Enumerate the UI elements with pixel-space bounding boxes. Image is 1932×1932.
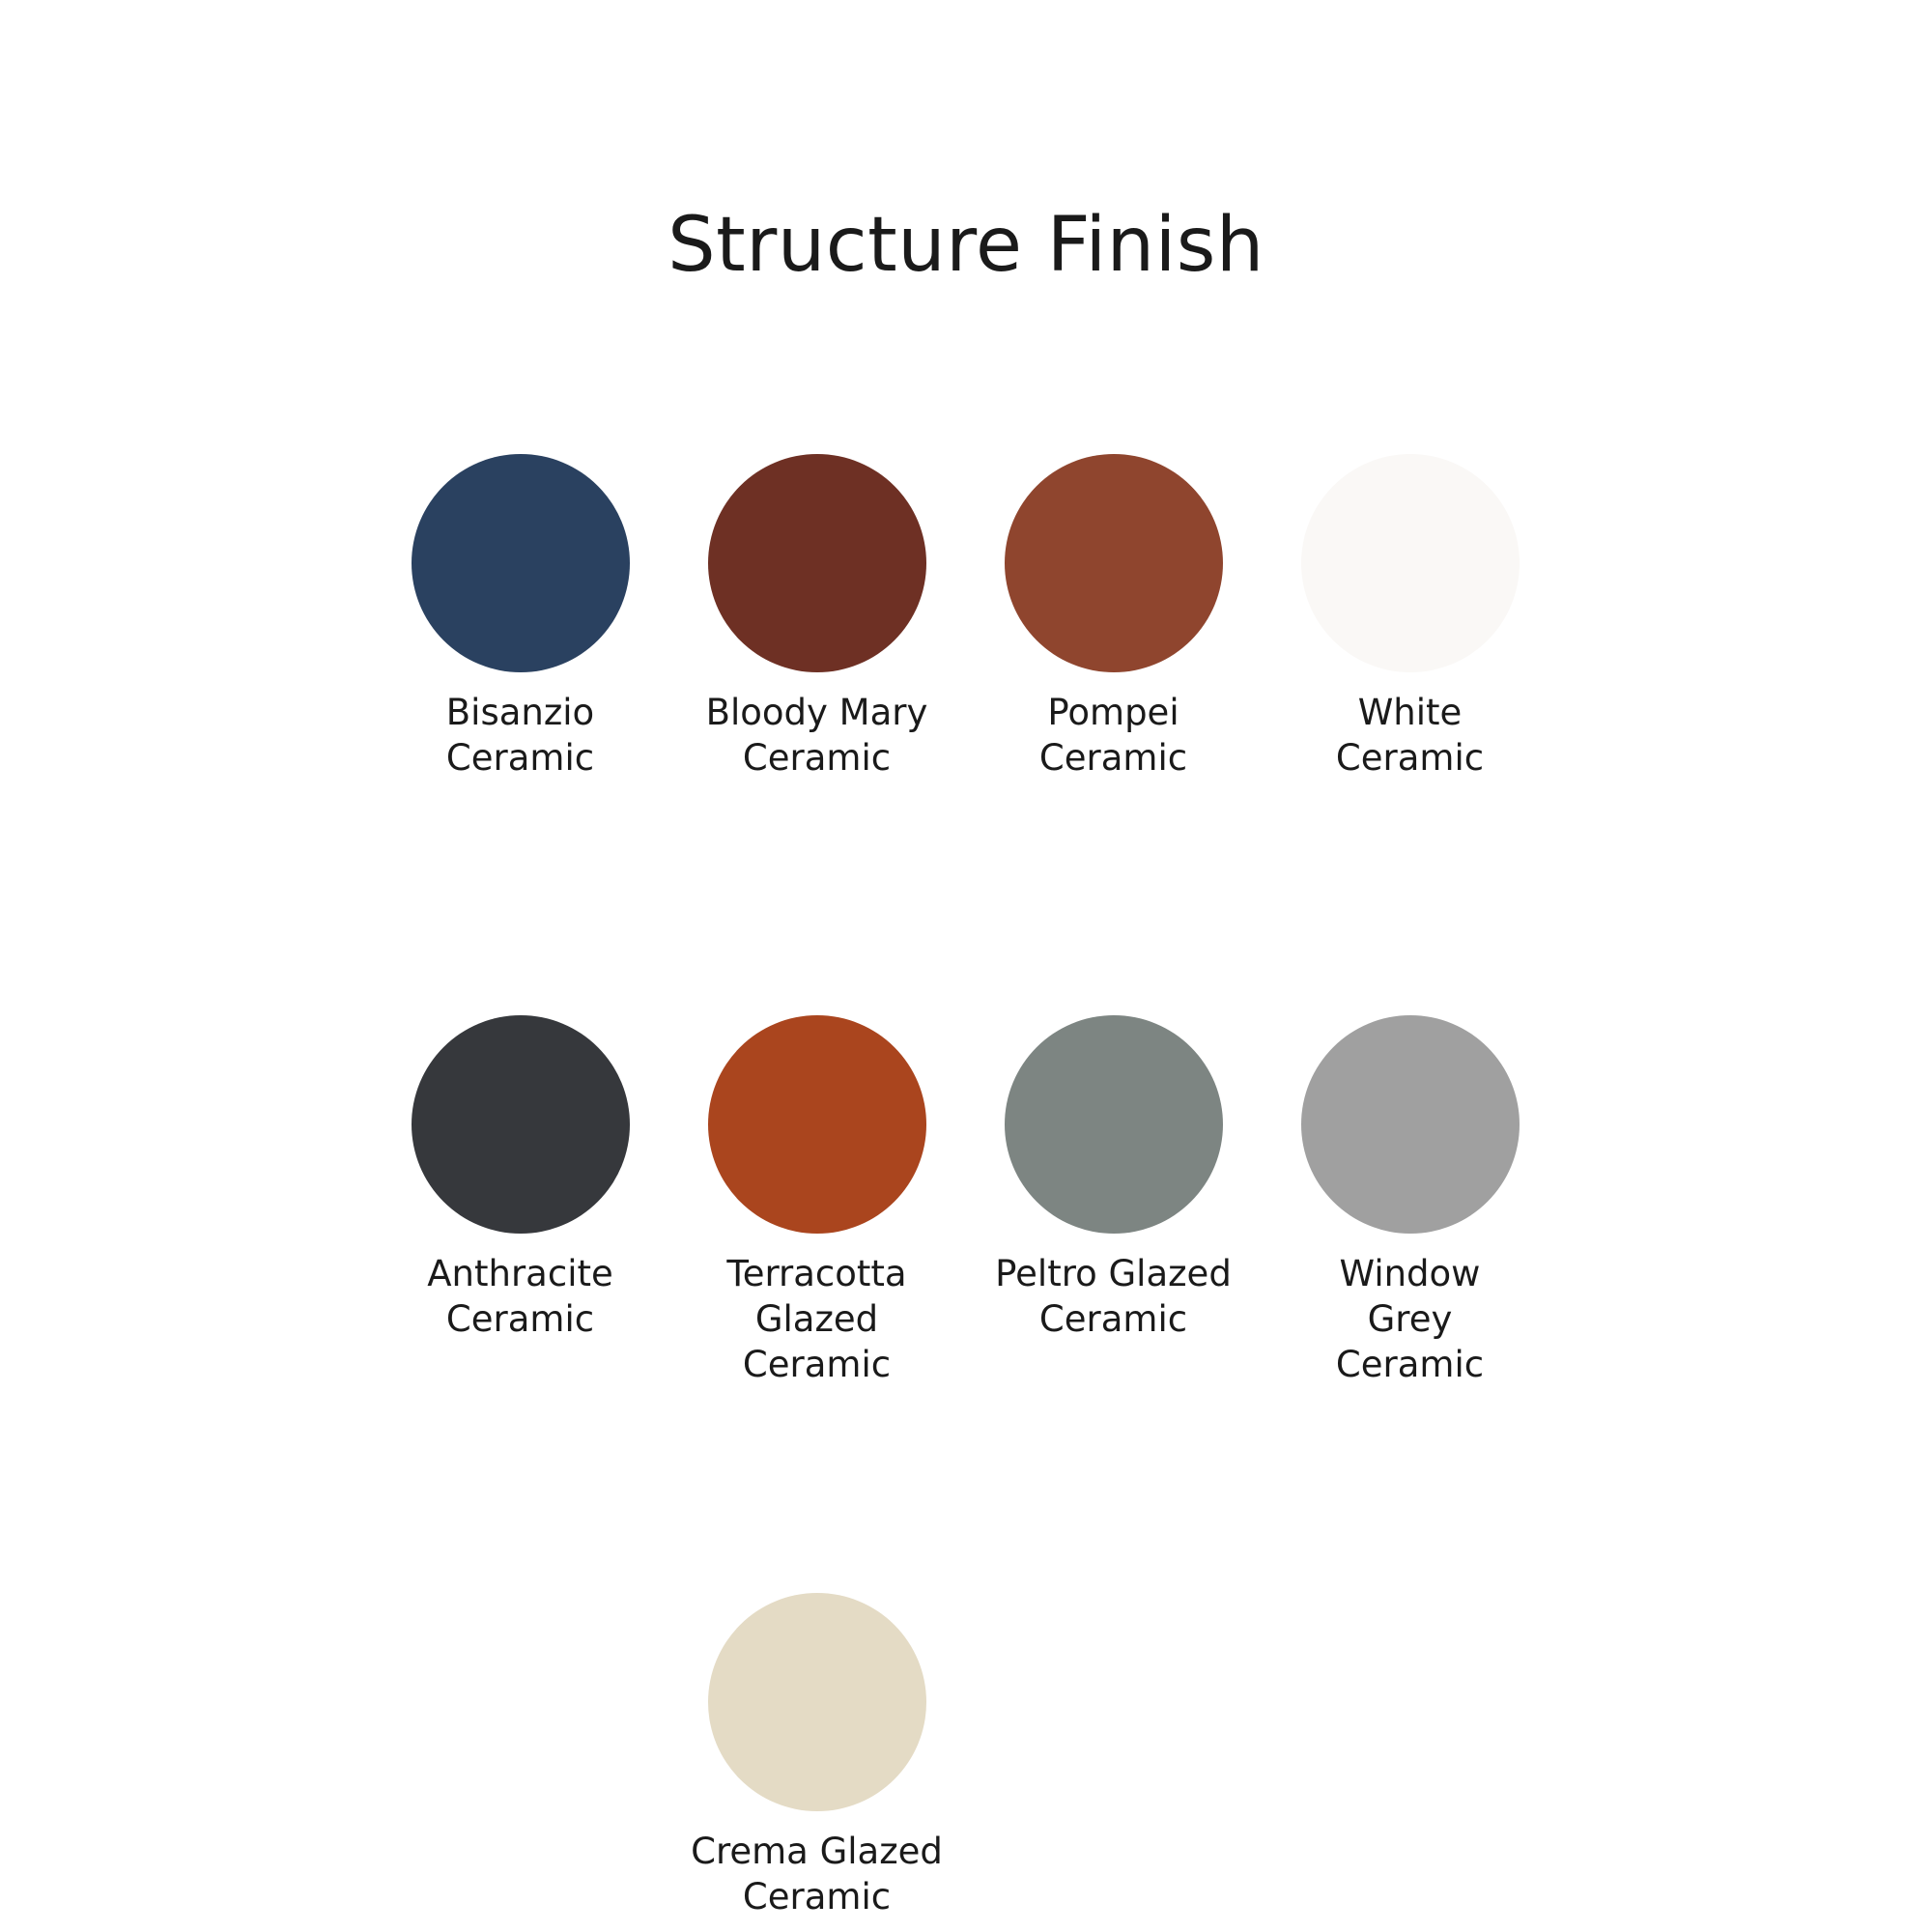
swatch-label: WindowGreyCeramic xyxy=(1265,1251,1555,1388)
color-swatch-board: Structure Finish BisanzioCeramic Bloody … xyxy=(0,0,1932,1932)
swatch-item-bisanzio-ceramic[interactable]: BisanzioCeramic xyxy=(372,454,668,781)
swatch-row: BisanzioCeramic Bloody MaryCeramic Pompe… xyxy=(372,454,1560,781)
swatch-item-terracotta-glazed-ceramic[interactable]: TerracottaGlazedCeramic xyxy=(668,1015,965,1388)
swatch-item-white-ceramic[interactable]: WhiteCeramic xyxy=(1262,454,1558,781)
swatch-label: TerracottaGlazedCeramic xyxy=(672,1251,962,1388)
swatch-item-pompei-ceramic[interactable]: PompeiCeramic xyxy=(965,454,1262,781)
swatch-label: PompeiCeramic xyxy=(969,690,1259,781)
swatch-label: AnthraciteCeramic xyxy=(376,1251,666,1343)
swatch-label: Crema GlazedCeramic xyxy=(672,1829,962,1920)
swatch-label: Peltro GlazedCeramic xyxy=(969,1251,1259,1343)
swatch-row: Crema GlazedCeramic xyxy=(372,1593,1560,1920)
color-dot[interactable] xyxy=(412,1015,630,1234)
swatch-label: BisanzioCeramic xyxy=(376,690,666,781)
color-dot[interactable] xyxy=(412,454,630,672)
swatch-grid: BisanzioCeramic Bloody MaryCeramic Pompe… xyxy=(372,454,1560,1920)
color-dot[interactable] xyxy=(708,1593,926,1811)
swatch-item-peltro-glazed-ceramic[interactable]: Peltro GlazedCeramic xyxy=(965,1015,1262,1343)
color-dot[interactable] xyxy=(1301,1015,1520,1234)
color-dot[interactable] xyxy=(1005,454,1223,672)
swatch-item-crema-glazed-ceramic[interactable]: Crema GlazedCeramic xyxy=(668,1593,965,1920)
color-dot[interactable] xyxy=(1005,1015,1223,1234)
color-dot[interactable] xyxy=(708,1015,926,1234)
swatch-item-window-grey-ceramic[interactable]: WindowGreyCeramic xyxy=(1262,1015,1558,1388)
swatch-label: WhiteCeramic xyxy=(1265,690,1555,781)
swatch-label: Bloody MaryCeramic xyxy=(672,690,962,781)
swatch-item-bloody-mary-ceramic[interactable]: Bloody MaryCeramic xyxy=(668,454,965,781)
page-title: Structure Finish xyxy=(0,208,1932,283)
color-dot[interactable] xyxy=(708,454,926,672)
swatch-item-anthracite-ceramic[interactable]: AnthraciteCeramic xyxy=(372,1015,668,1343)
color-dot[interactable] xyxy=(1301,454,1520,672)
swatch-row: AnthraciteCeramic TerracottaGlazedCerami… xyxy=(372,1015,1560,1388)
